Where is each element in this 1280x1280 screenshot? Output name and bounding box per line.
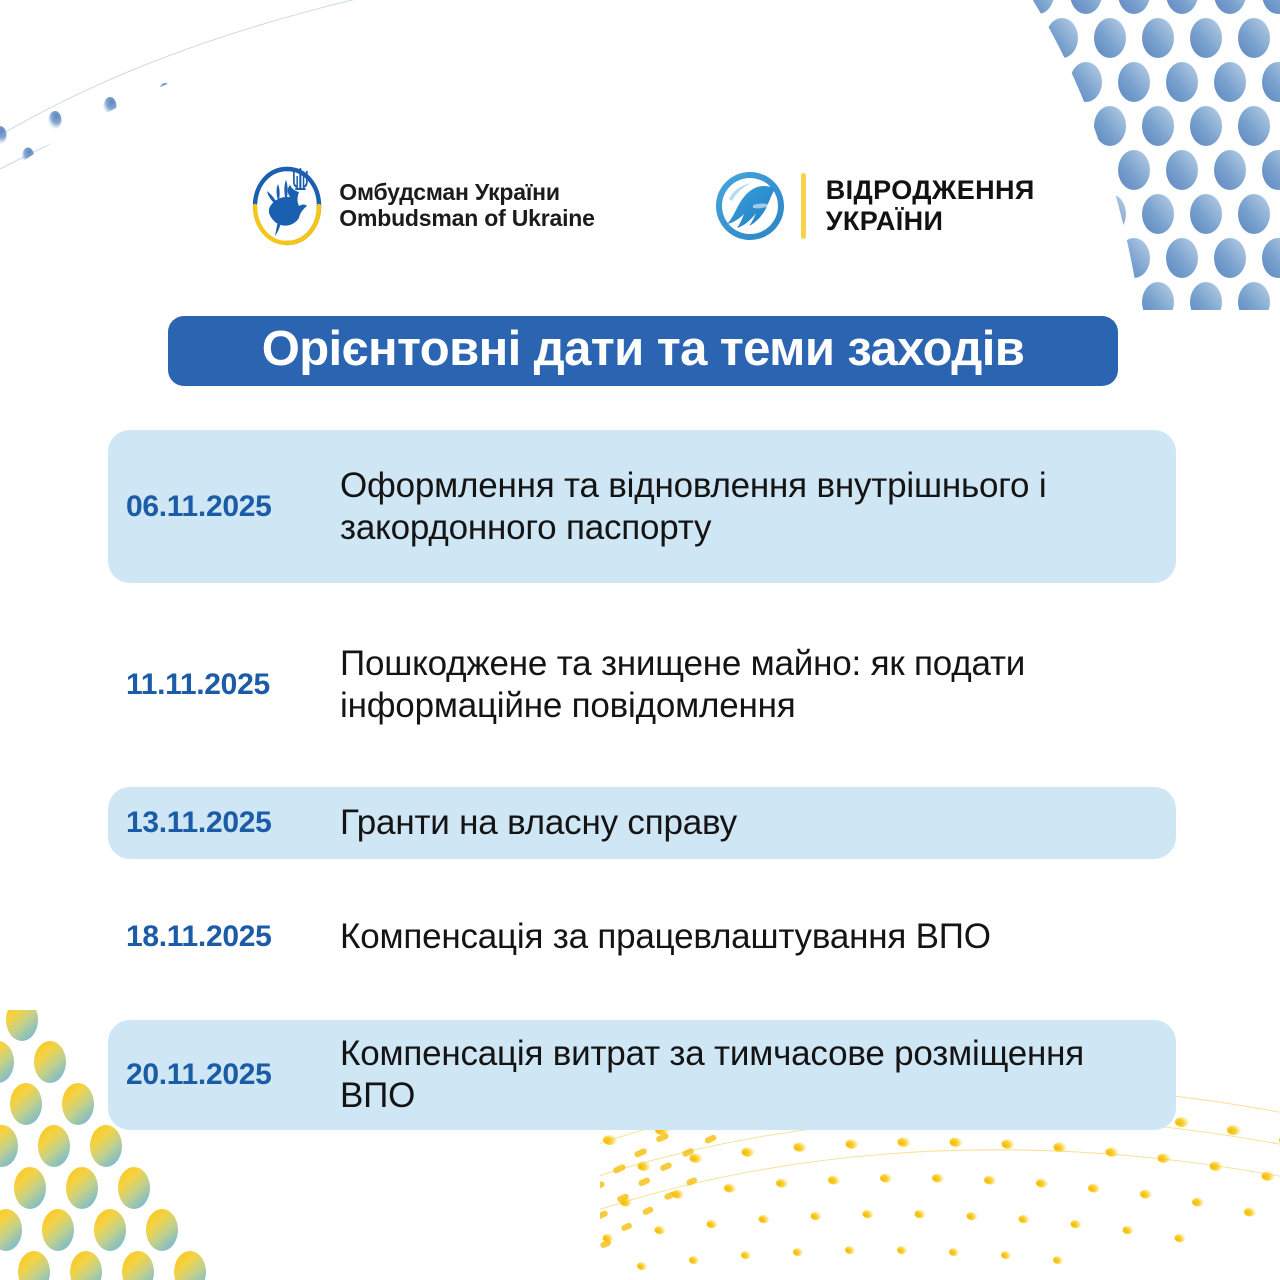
page-title-banner: Орієнтовні дати та теми заходів <box>168 316 1118 386</box>
ombudsman-dove-hand-trident-icon <box>245 164 329 248</box>
event-topic: Гранти на власну справу <box>340 802 1176 844</box>
ombudsman-logo-text: Омбудсман України Ombudsman of Ukraine <box>339 180 594 232</box>
ombudsman-logo: Омбудсман України Ombudsman of Ukraine <box>245 164 594 248</box>
schedule-row: 13.11.2025 Гранти на власну справу <box>108 787 1176 859</box>
schedule-row: 20.11.2025 Компенсація витрат за тимчасо… <box>108 1020 1176 1130</box>
schedule-row: 11.11.2025 Пошкоджене та знищене майно: … <box>108 610 1176 760</box>
infographic-page: Омбудсман України Ombudsman of Ukraine <box>0 0 1280 1280</box>
logo-divider <box>801 173 806 239</box>
event-date: 20.11.2025 <box>108 1058 340 1092</box>
phoenix-bird-circle-icon <box>713 169 787 243</box>
vidrodzhennia-logo-line-1: ВІДРОДЖЕННЯ <box>826 175 1035 206</box>
vidrodzhennia-logo: ВІДРОДЖЕННЯ УКРАЇНИ <box>713 169 1035 243</box>
vidrodzhennia-logo-line-2: УКРАЇНИ <box>826 206 1035 237</box>
ombudsman-logo-line-en: Ombudsman of Ukraine <box>339 206 594 232</box>
page-title: Орієнтовні дати та теми заходів <box>262 325 1025 374</box>
vidrodzhennia-logo-text: ВІДРОДЖЕННЯ УКРАЇНИ <box>826 175 1035 237</box>
schedule-row: 06.11.2025 Оформлення та відновлення вну… <box>108 430 1176 583</box>
dot-grid-top-right-decoration <box>960 0 1280 310</box>
schedule-row: 18.11.2025 Компенсація за працевлаштуван… <box>108 881 1176 993</box>
logo-bar: Омбудсман України Ombudsman of Ukraine <box>0 158 1280 254</box>
event-topic: Компенсація за працевлаштування ВПО <box>340 916 1176 958</box>
event-date: 18.11.2025 <box>108 920 340 954</box>
schedule-list: 06.11.2025 Оформлення та відновлення вну… <box>108 430 1176 1130</box>
ombudsman-logo-line-uk: Омбудсман України <box>339 180 594 206</box>
event-topic: Оформлення та відновлення внутрішнього і… <box>340 465 1176 549</box>
event-topic: Пошкоджене та знищене майно: як подати і… <box>340 643 1176 727</box>
event-topic: Компенсація витрат за тимчасове розміщен… <box>340 1033 1176 1117</box>
event-date: 06.11.2025 <box>108 490 340 524</box>
event-date: 13.11.2025 <box>108 806 340 840</box>
event-date: 11.11.2025 <box>108 668 340 702</box>
